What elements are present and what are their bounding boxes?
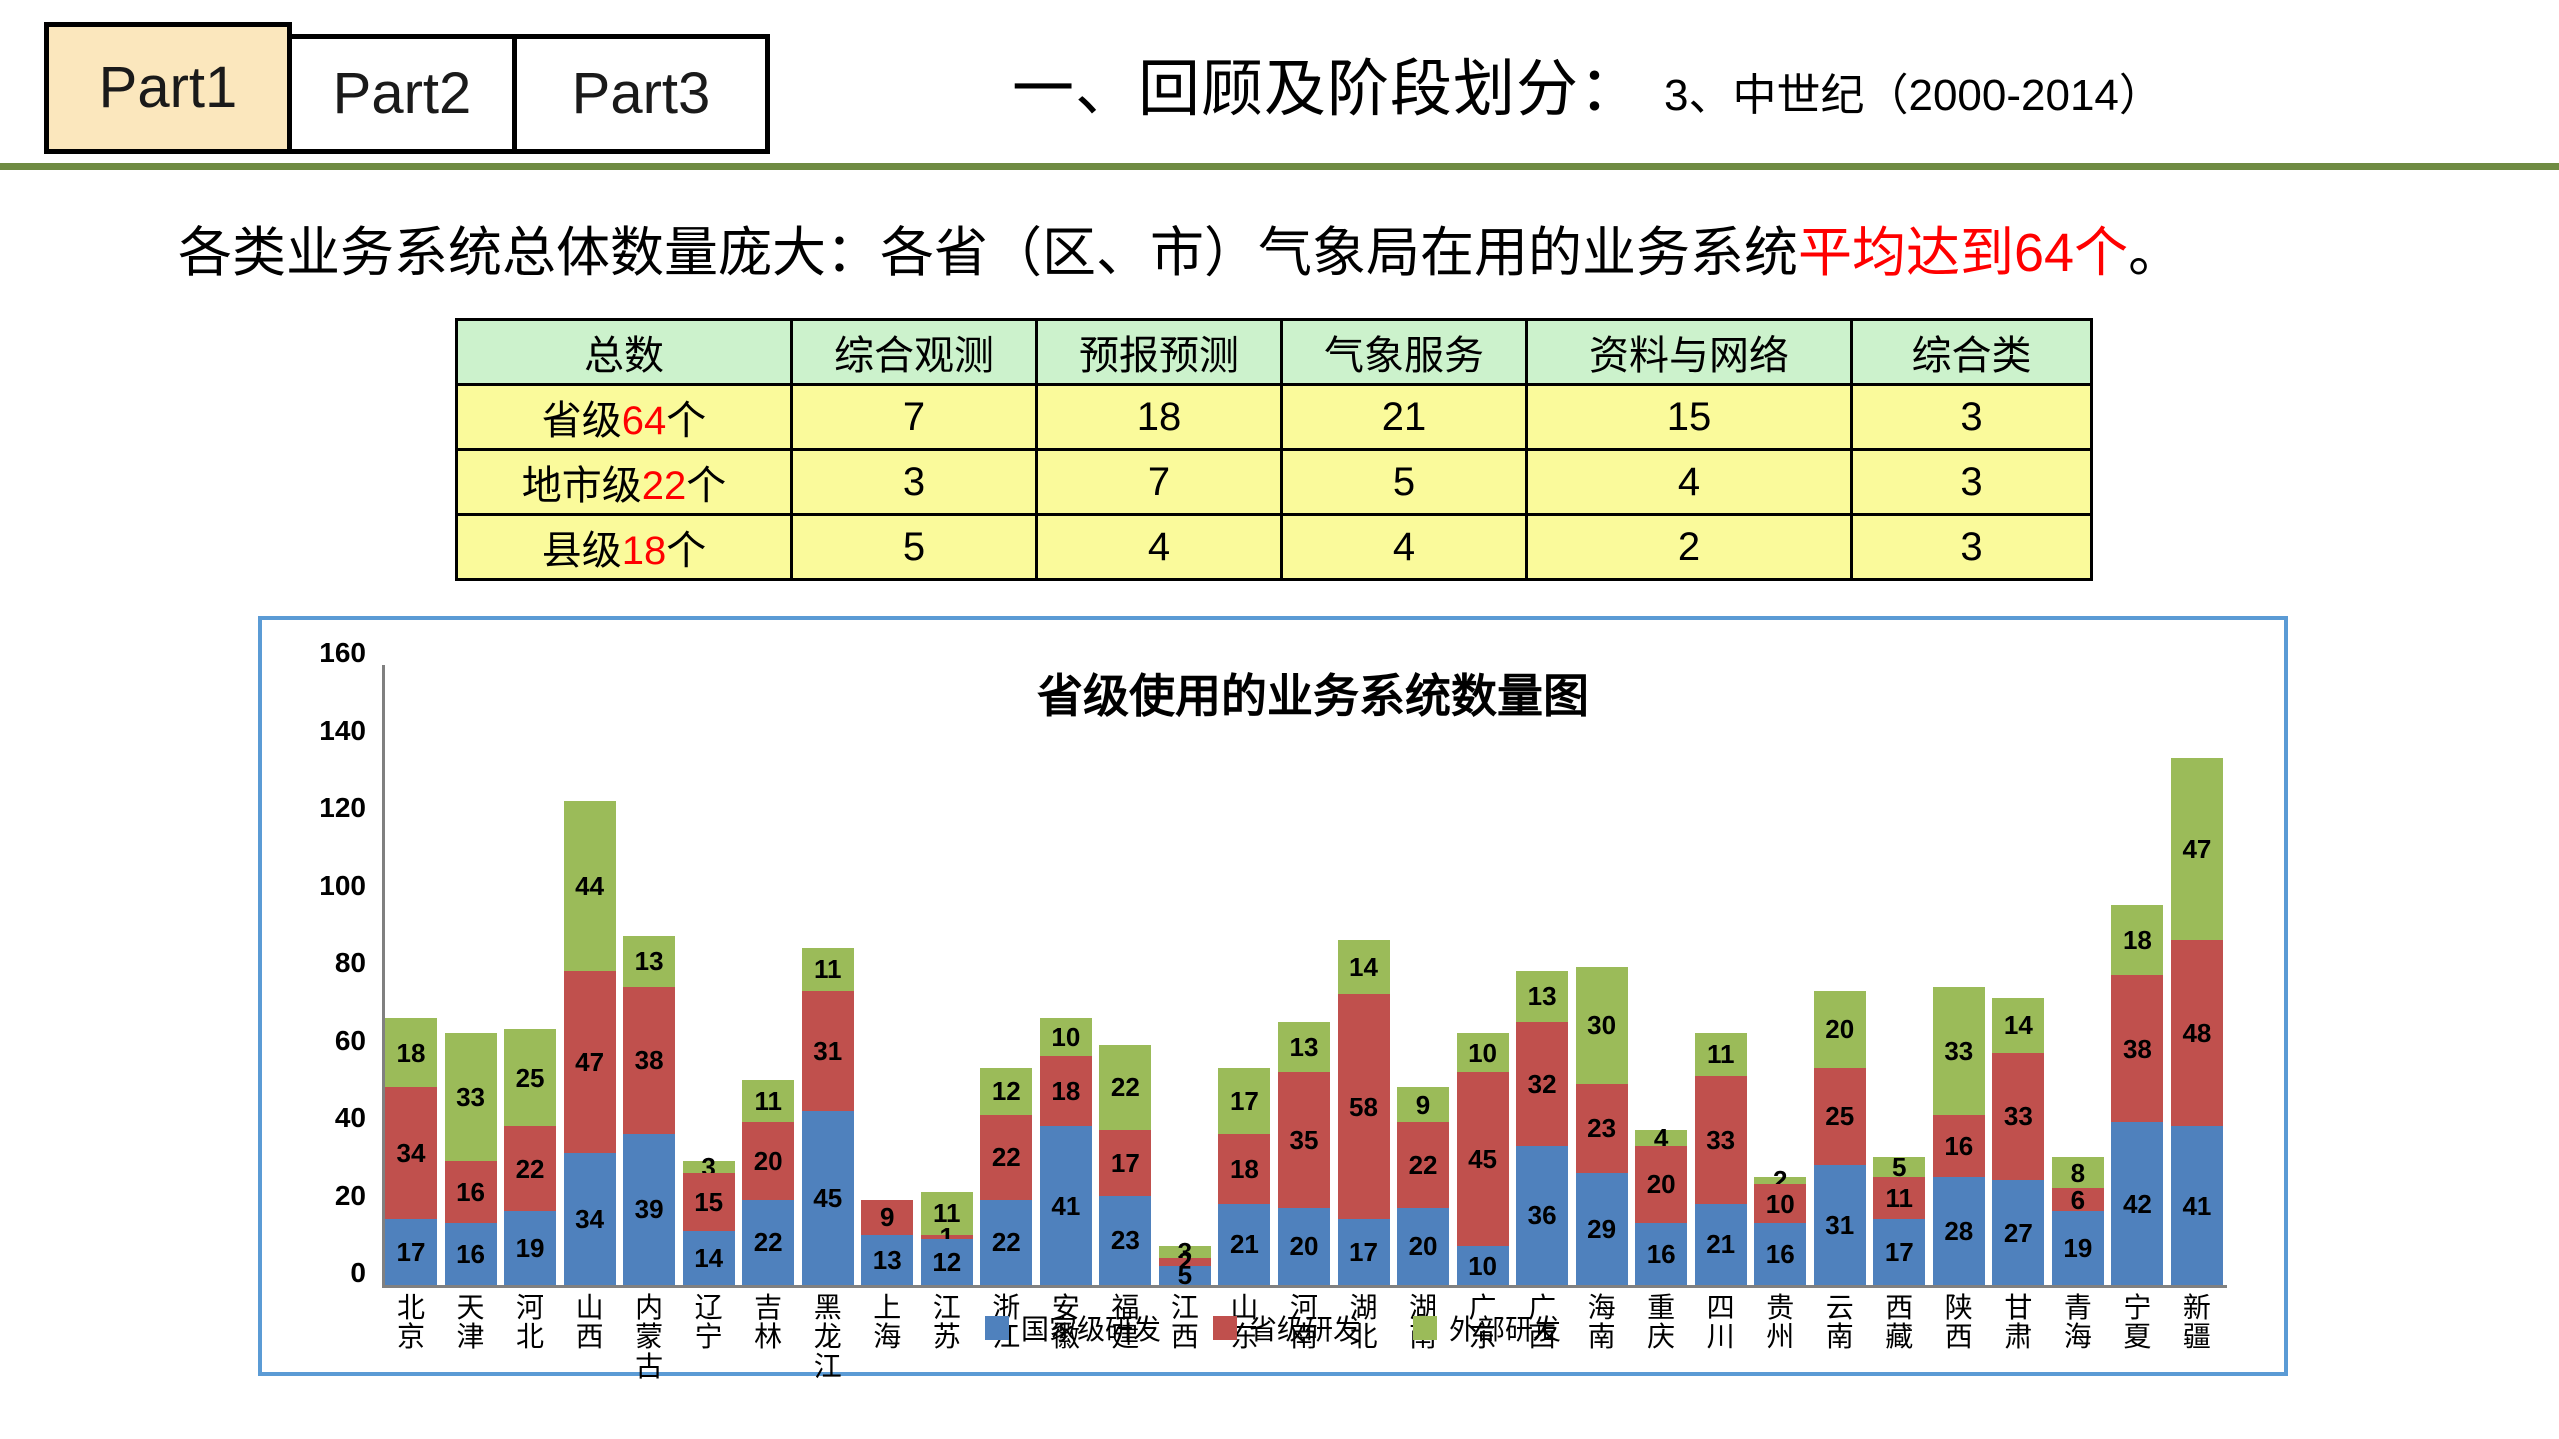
bar-segment: 17 [1338, 1219, 1390, 1285]
table-cell: 7 [792, 385, 1037, 450]
bar-value-label: 14 [694, 1245, 723, 1271]
bar-column[interactable]: 51117 [1873, 1157, 1925, 1285]
bar-value-label: 33 [456, 1084, 485, 1110]
bar-value-label: 11 [814, 956, 842, 982]
tab-part1-label: Part1 [99, 59, 238, 117]
bar-value-label: 27 [2004, 1220, 2033, 1246]
bar-segment: 9 [1397, 1087, 1449, 1122]
table-cell: 21 [1282, 385, 1527, 450]
bar-segment: 22 [980, 1200, 1032, 1285]
bar-value-label: 11 [1886, 1185, 1914, 1211]
bar-value-label: 32 [1528, 1071, 1557, 1097]
level-unit: 个 [666, 399, 706, 443]
bar-value-label: 20 [1825, 1016, 1854, 1042]
level-label: 地市级 [522, 464, 642, 508]
bar-value-label: 25 [1825, 1103, 1854, 1129]
bar-value-label: 48 [2182, 1020, 2211, 1046]
tab-part1[interactable]: Part1 [44, 22, 292, 154]
bar-segment: 12 [921, 1239, 973, 1286]
table-cell-level: 省级64个 [457, 385, 792, 450]
bar-segment: 20 [1635, 1146, 1687, 1224]
page-title: 一、回顾及阶段划分： 3、中世纪（2000-2014） [1012, 38, 2163, 128]
bar-segment: 21 [1695, 1204, 1747, 1285]
bar-segment: 23 [1099, 1196, 1151, 1285]
bar-segment: 39 [623, 1134, 675, 1285]
bar-segment: 13 [1278, 1022, 1330, 1072]
bar-segment: 22 [1397, 1122, 1449, 1207]
y-axis-tick: 140 [266, 715, 366, 747]
bar-value-label: 16 [456, 1241, 485, 1267]
bar-segment: 17 [385, 1219, 437, 1285]
bar-value-label: 31 [1825, 1212, 1854, 1238]
bar-column[interactable]: 112022 [742, 1080, 794, 1285]
bar-value-label: 38 [2123, 1036, 2152, 1062]
bar-segment: 6 [2052, 1188, 2104, 1211]
y-axis-tick: 60 [266, 1025, 366, 1057]
bar-segment: 41 [1040, 1126, 1092, 1285]
bar-segment: 18 [1218, 1134, 1270, 1204]
bar-column[interactable]: 42016 [1635, 1130, 1687, 1285]
bar-value-label: 13 [1290, 1034, 1319, 1060]
bar-column[interactable]: 183842 [2111, 905, 2163, 1285]
bar-segment: 19 [2052, 1211, 2104, 1285]
table-cell: 5 [1282, 450, 1527, 515]
bar-segment: 47 [2171, 758, 2223, 940]
level-unit: 个 [686, 464, 726, 508]
bar-value-label: 5 [1178, 1262, 1192, 1288]
bar-segment: 10 [1754, 1184, 1806, 1223]
bar-value-label: 58 [1349, 1094, 1378, 1120]
table-cell: 4 [1282, 515, 1527, 580]
bar-value-label: 21 [1230, 1231, 1259, 1257]
bar-segment: 33 [445, 1033, 497, 1161]
chart-legend: 国家级研发省级研发外部研发 [262, 1308, 2284, 1348]
table-cell: 4 [1037, 515, 1282, 580]
bar-value-label: 19 [2063, 1235, 2092, 1261]
table-cell: 3 [1852, 385, 2092, 450]
bar-value-label: 17 [1885, 1239, 1914, 1265]
bar-value-label: 17 [1111, 1150, 1140, 1176]
bar-segment: 22 [742, 1200, 794, 1285]
bar-segment: 18 [385, 1018, 437, 1088]
bar-value-label: 42 [2123, 1191, 2152, 1217]
table-cell: 5 [792, 515, 1037, 580]
bar-column[interactable]: 302329 [1576, 967, 1628, 1285]
bar-value-label: 20 [1409, 1233, 1438, 1259]
bar-value-label: 34 [397, 1140, 426, 1166]
bar-column[interactable]: 202531 [1814, 991, 1866, 1286]
bar-segment: 35 [1278, 1072, 1330, 1208]
bar-value-label: 18 [1051, 1078, 1080, 1104]
bar-segment: 11 [802, 948, 854, 991]
table-header-cell: 资料与网络 [1527, 320, 1852, 385]
bar-value-label: 45 [813, 1185, 842, 1211]
bar-value-label: 41 [1051, 1193, 1080, 1219]
subtitle-highlight: 平均达到64个 [1798, 223, 2128, 283]
bar-segment: 27 [1992, 1180, 2044, 1285]
bar-value-label: 13 [635, 948, 664, 974]
table-cell: 3 [1852, 515, 2092, 580]
bar-segment: 22 [504, 1126, 556, 1211]
bar-segment: 16 [1933, 1115, 1985, 1177]
bar-segment: 8 [2052, 1157, 2104, 1188]
bar-segment: 16 [445, 1223, 497, 1285]
bar-series-container: 1834173316162522194447341338393151411202… [385, 665, 2223, 1285]
bar-column[interactable]: 11112 [921, 1192, 973, 1285]
bar-segment: 44 [564, 801, 616, 972]
bar-segment: 31 [1814, 1165, 1866, 1285]
bar-column[interactable]: 101841 [1040, 1018, 1092, 1285]
bar-value-label: 33 [2004, 1103, 2033, 1129]
bar-segment: 16 [445, 1161, 497, 1223]
bar-value-label: 6 [2071, 1187, 2085, 1213]
bar-value-label: 17 [397, 1239, 426, 1265]
bar-value-label: 20 [754, 1148, 783, 1174]
table-row: 县级18个 5 4 4 2 3 [457, 515, 2092, 580]
bar-segment: 22 [980, 1115, 1032, 1200]
bar-value-label: 20 [1290, 1233, 1319, 1259]
bar-value-label: 47 [2182, 836, 2211, 862]
bar-column[interactable]: 92220 [1397, 1087, 1449, 1285]
bar-segment: 33 [1992, 1053, 2044, 1181]
bar-value-label: 33 [1944, 1038, 1973, 1064]
bar-value-label: 25 [516, 1065, 545, 1091]
bar-value-label: 39 [635, 1196, 664, 1222]
legend-item[interactable]: 省级研发 [1213, 1308, 1361, 1348]
bar-segment: 17 [1099, 1130, 1151, 1196]
bar-value-label: 22 [754, 1229, 783, 1255]
bar-value-label: 45 [1468, 1146, 1497, 1172]
bar-column[interactable]: 104510 [1457, 1033, 1509, 1285]
bar-segment: 5 [1159, 1266, 1211, 1285]
bar-segment: 45 [1457, 1072, 1509, 1246]
bar-column[interactable]: 171821 [1218, 1068, 1270, 1285]
bar-segment: 28 [1933, 1177, 1985, 1286]
bar-value-label: 11 [754, 1088, 782, 1114]
level-label: 县级 [542, 529, 622, 573]
table-row: 地市级22个 3 7 5 4 3 [457, 450, 2092, 515]
table-cell: 18 [1037, 385, 1282, 450]
bar-value-label: 14 [1349, 954, 1378, 980]
table-cell: 3 [1852, 450, 2092, 515]
bar-segment: 17 [1873, 1219, 1925, 1285]
bar-column[interactable]: 331628 [1933, 987, 1985, 1285]
bar-value-label: 23 [1587, 1115, 1616, 1141]
bar-value-label: 35 [1290, 1127, 1319, 1153]
bar-value-label: 18 [1230, 1156, 1259, 1182]
table-cell: 3 [792, 450, 1037, 515]
legend-swatch [985, 1316, 1009, 1340]
level-label: 省级 [542, 399, 622, 443]
bar-value-label: 20 [1647, 1171, 1676, 1197]
legend-label: 国家级研发 [1021, 1308, 1161, 1348]
bar-segment: 20 [1814, 991, 1866, 1069]
y-axis-tick: 100 [266, 870, 366, 902]
bar-value-label: 14 [2004, 1012, 2033, 1038]
tab-part3-label: Part3 [572, 65, 711, 123]
bar-segment: 34 [564, 1153, 616, 1285]
bar-segment: 25 [504, 1029, 556, 1126]
bar-value-label: 33 [1706, 1127, 1735, 1153]
bar-column[interactable]: 143327 [1992, 998, 2044, 1285]
bar-column[interactable]: 133236 [1516, 971, 1568, 1285]
bar-value-label: 19 [516, 1235, 545, 1261]
table-header-cell: 预报预测 [1037, 320, 1282, 385]
legend-item[interactable]: 外部研发 [1413, 1308, 1561, 1348]
level-total: 22 [642, 464, 687, 508]
bar-value-label: 16 [1766, 1241, 1795, 1267]
bar-value-label: 22 [1409, 1152, 1438, 1178]
table-cell: 4 [1527, 450, 1852, 515]
bar-value-label: 9 [880, 1204, 894, 1230]
bar-value-label: 18 [397, 1040, 426, 1066]
bar-segment: 18 [1040, 1056, 1092, 1126]
bar-column[interactable]: 31514 [683, 1161, 735, 1285]
level-total: 18 [622, 529, 667, 573]
y-axis-tick: 80 [266, 947, 366, 979]
bar-segment: 33 [1695, 1076, 1747, 1204]
bar-value-label: 28 [1944, 1218, 1973, 1244]
legend-label: 省级研发 [1249, 1308, 1361, 1348]
bar-value-label: 17 [1349, 1239, 1378, 1265]
bar-column[interactable]: 444734 [564, 801, 616, 1285]
bar-value-label: 22 [992, 1144, 1021, 1170]
bar-value-label: 36 [1528, 1202, 1557, 1228]
bar-segment: 45 [802, 1111, 854, 1285]
chart-plot-area: 160140120100806040200 183417331616252219… [382, 665, 2227, 1345]
x-axis-line [382, 1285, 2227, 1288]
bar-value-label: 21 [1706, 1231, 1735, 1257]
bar-value-label: 18 [2123, 927, 2152, 953]
part-tab-group: Part1 Part2 Part3 [44, 22, 770, 154]
bar-value-label: 16 [1944, 1133, 1973, 1159]
bar-segment: 10 [1457, 1246, 1509, 1285]
bar-column[interactable]: 325 [1159, 1246, 1211, 1285]
subtitle-prefix: 各类业务系统总体数量庞大：各省（区、市）气象局在用的业务系统 [178, 223, 1798, 283]
bar-segment: 10 [1040, 1018, 1092, 1057]
bar-value-label: 13 [873, 1247, 902, 1273]
bar-value-label: 9 [1416, 1092, 1430, 1118]
bar-column[interactable]: 113321 [1695, 1033, 1747, 1285]
bar-column[interactable]: 474841 [2171, 758, 2223, 1285]
bar-value-label: 30 [1587, 1012, 1616, 1038]
table-header-cell: 气象服务 [1282, 320, 1527, 385]
bar-value-label: 23 [1111, 1227, 1140, 1253]
bar-value-label: 8 [2071, 1160, 2085, 1186]
bar-value-label: 12 [992, 1078, 1021, 1104]
bar-segment: 2 [1754, 1177, 1806, 1185]
bar-segment: 13 [861, 1235, 913, 1285]
bar-value-label: 10 [1468, 1253, 1497, 1279]
bar-segment: 11 [1873, 1177, 1925, 1220]
page-title-sub: 3、中世纪（2000-2014） [1664, 59, 2163, 123]
bar-column[interactable]: 145817 [1338, 940, 1390, 1285]
bar-value-label: 29 [1587, 1216, 1616, 1242]
y-axis-tick: 0 [266, 1257, 366, 1289]
table-header-cell: 总数 [457, 320, 792, 385]
bar-value-label: 34 [575, 1206, 604, 1232]
bar-segment: 18 [2111, 905, 2163, 975]
table-cell: 15 [1527, 385, 1852, 450]
bar-segment: 36 [1516, 1146, 1568, 1286]
bar-segment: 10 [1457, 1033, 1509, 1072]
y-axis-tick: 120 [266, 792, 366, 824]
table-cell-level: 县级18个 [457, 515, 792, 580]
bar-column[interactable]: 133839 [623, 936, 675, 1285]
subtitle-suffix: 。 [2128, 223, 2182, 283]
bar-segment: 14 [1338, 940, 1390, 994]
table-header-row: 总数 综合观测 预报预测 气象服务 资料与网络 综合类 [457, 320, 2092, 385]
bar-value-label: 11 [1707, 1041, 1735, 1067]
legend-swatch [1413, 1316, 1437, 1340]
y-axis-tick: 40 [266, 1102, 366, 1134]
bar-segment: 48 [2171, 940, 2223, 1126]
bar-segment: 20 [1397, 1208, 1449, 1286]
bar-value-label: 47 [575, 1049, 604, 1075]
bar-segment: 9 [861, 1200, 913, 1235]
bar-column[interactable]: 122222 [980, 1068, 1032, 1285]
bar-column[interactable]: 21016 [1754, 1177, 1806, 1286]
bar-value-label: 12 [932, 1249, 961, 1275]
bar-column[interactable]: 913 [861, 1200, 913, 1285]
table-header-cell: 综合观测 [792, 320, 1037, 385]
bar-segment: 19 [504, 1211, 556, 1285]
bar-segment: 16 [1754, 1223, 1806, 1285]
bar-segment: 20 [1278, 1208, 1330, 1286]
legend-swatch [1213, 1316, 1237, 1340]
bar-value-label: 10 [1468, 1040, 1497, 1066]
bar-segment: 31 [802, 991, 854, 1111]
summary-table: 总数 综合观测 预报预测 气象服务 资料与网络 综合类 省级64个 7 18 2… [455, 318, 2093, 581]
bar-segment: 38 [2111, 975, 2163, 1122]
table-row: 省级64个 7 18 21 15 3 [457, 385, 2092, 450]
bar-value-label: 31 [813, 1038, 842, 1064]
bar-segment: 14 [1992, 998, 2044, 1052]
bar-value-label: 22 [992, 1229, 1021, 1255]
page-title-main: 一、回顾及阶段划分： [1012, 38, 1642, 128]
bar-column[interactable]: 252219 [504, 1029, 556, 1285]
bar-column[interactable]: 133520 [1278, 1022, 1330, 1286]
y-axis-tick: 160 [266, 637, 366, 669]
bar-segment: 13 [1516, 971, 1568, 1021]
bar-column[interactable]: 8619 [2052, 1157, 2104, 1285]
bar-value-label: 41 [2182, 1193, 2211, 1219]
bar-value-label: 22 [1111, 1074, 1140, 1100]
bar-segment: 3 [683, 1161, 735, 1173]
bar-value-label: 10 [1051, 1024, 1080, 1050]
bar-segment: 5 [1873, 1157, 1925, 1176]
table-header-cell: 综合类 [1852, 320, 2092, 385]
bar-value-label: 13 [1528, 983, 1557, 1009]
bar-segment: 58 [1338, 994, 1390, 1219]
tab-part3[interactable]: Part3 [512, 34, 770, 154]
tab-part2-label: Part2 [333, 65, 472, 123]
bar-segment: 41 [2171, 1126, 2223, 1285]
legend-item[interactable]: 国家级研发 [985, 1308, 1161, 1348]
slide-header: Part1 Part2 Part3 一、回顾及阶段划分： 3、中世纪（2000-… [0, 0, 2559, 172]
subtitle-text: 各类业务系统总体数量庞大：各省（区、市）气象局在用的业务系统平均达到64个。 [178, 208, 2182, 287]
bar-column[interactable]: 113145 [802, 948, 854, 1285]
bar-value-label: 15 [694, 1189, 723, 1215]
bar-segment: 47 [564, 971, 616, 1153]
tab-part2[interactable]: Part2 [287, 34, 517, 154]
bar-segment: 15 [683, 1173, 735, 1231]
table-cell-level: 地市级22个 [457, 450, 792, 515]
bar-segment: 11 [742, 1080, 794, 1123]
table-cell: 7 [1037, 450, 1282, 515]
bar-column[interactable]: 331616 [445, 1033, 497, 1285]
table-cell: 2 [1527, 515, 1852, 580]
bar-segment: 16 [1635, 1223, 1687, 1285]
bar-segment: 14 [683, 1231, 735, 1285]
chart-panel: 省级使用的业务系统数量图 160140120100806040200 18341… [258, 616, 2288, 1376]
bar-segment: 12 [980, 1068, 1032, 1115]
bar-segment: 20 [742, 1122, 794, 1200]
bar-segment: 32 [1516, 1022, 1568, 1146]
bar-value-label: 22 [516, 1156, 545, 1182]
bar-segment: 38 [623, 987, 675, 1134]
bar-segment: 21 [1218, 1204, 1270, 1285]
y-axis-tick: 20 [266, 1180, 366, 1212]
bar-value-label: 16 [456, 1179, 485, 1205]
bar-segment: 13 [623, 936, 675, 986]
header-divider [0, 163, 2559, 170]
bar-segment: 34 [385, 1087, 437, 1219]
bar-value-label: 17 [1230, 1088, 1259, 1114]
level-total: 64 [622, 399, 667, 443]
bar-segment: 25 [1814, 1068, 1866, 1165]
bar-column[interactable]: 183417 [385, 1018, 437, 1285]
bar-segment: 17 [1218, 1068, 1270, 1134]
bar-segment: 22 [1099, 1045, 1151, 1130]
bar-column[interactable]: 221723 [1099, 1045, 1151, 1285]
bar-segment: 33 [1933, 987, 1985, 1115]
bar-value-label: 38 [635, 1047, 664, 1073]
bar-segment: 29 [1576, 1173, 1628, 1285]
level-unit: 个 [666, 529, 706, 573]
y-axis-tick-labels: 160140120100806040200 [264, 651, 372, 1283]
bar-segment: 11 [1695, 1033, 1747, 1076]
bar-segment: 30 [1576, 967, 1628, 1083]
bar-value-label: 16 [1647, 1241, 1676, 1267]
bar-segment: 23 [1576, 1084, 1628, 1173]
bar-value-label: 44 [575, 873, 604, 899]
bar-value-label: 10 [1766, 1191, 1795, 1217]
bar-segment: 4 [1635, 1130, 1687, 1146]
legend-label: 外部研发 [1449, 1308, 1561, 1348]
bar-segment: 42 [2111, 1122, 2163, 1285]
